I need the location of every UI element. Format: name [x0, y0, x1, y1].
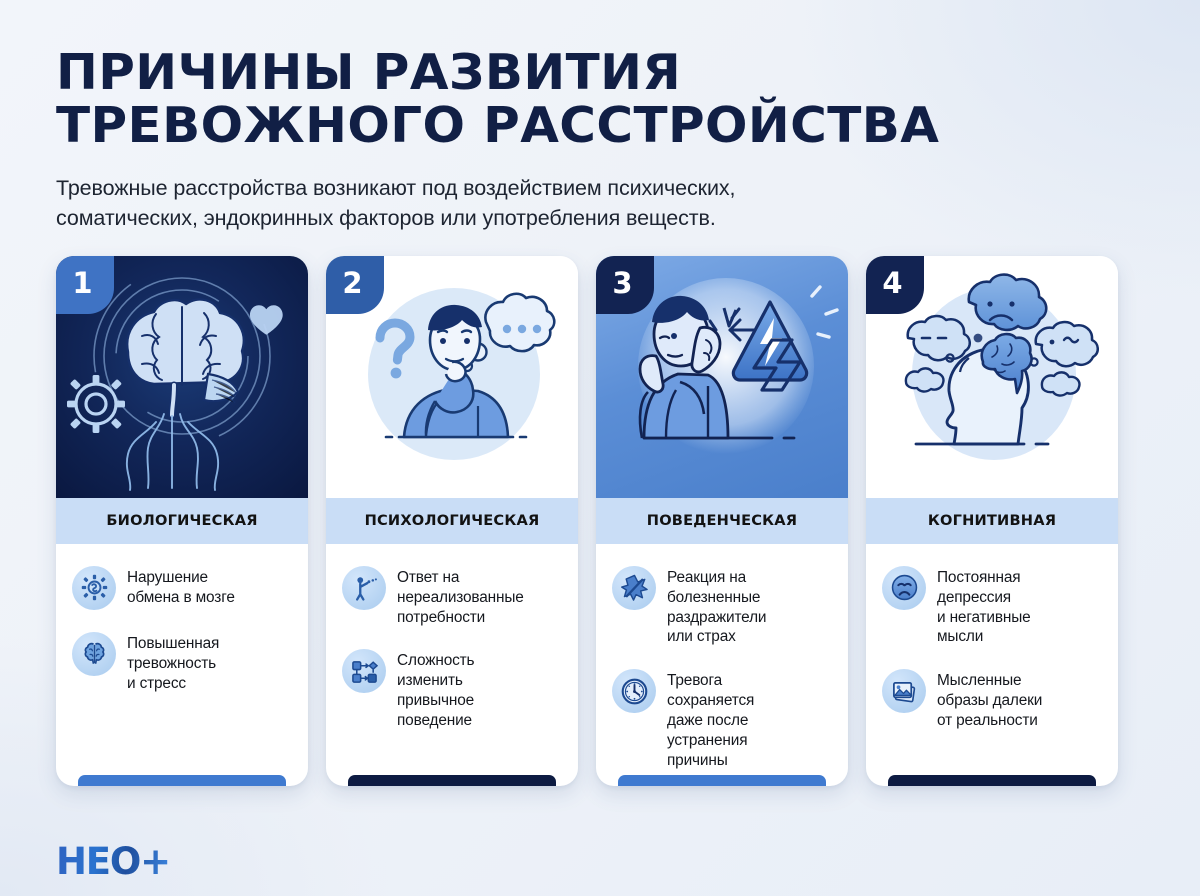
images-icon — [882, 669, 926, 713]
brain-icon — [72, 632, 116, 676]
list-item: Нарушение обмена в мозге — [72, 566, 292, 610]
list-item: Сложность изменить привычное поведение — [342, 649, 562, 730]
card-number-badge: 2 — [326, 256, 384, 314]
person-needs-icon — [342, 566, 386, 610]
card-label-behavioral: ПОВЕДЕНЧЕСКАЯ — [596, 498, 848, 544]
list-item: Ответ на нереализованные потребности — [342, 566, 562, 628]
card-behavioral[interactable]: 3 — [596, 256, 848, 786]
infographic-page: ПРИЧИНЫ РАЗВИТИЯ ТРЕВОЖНОГО РАССТРОЙСТВА… — [0, 0, 1200, 896]
burst-icon — [612, 566, 656, 610]
card-label-cognitive: КОГНИТИВНАЯ — [866, 498, 1118, 544]
list-item: Реакция на болезненные раздражители или … — [612, 566, 832, 647]
list-item-text: Постоянная депрессия и негативные мысли — [937, 566, 1031, 647]
gear-brain-icon — [72, 566, 116, 610]
list-item: Постоянная депрессия и негативные мысли — [882, 566, 1102, 647]
brand-logo: НЕО+ — [56, 843, 170, 880]
page-subtitle: Тревожные расстройства возникают под воз… — [56, 173, 1036, 234]
cards-row: 1 — [56, 256, 1144, 786]
card-biological[interactable]: 1 — [56, 256, 308, 786]
card-accent-bar — [888, 775, 1096, 786]
card-accent-bar — [618, 775, 826, 786]
card-body-behavioral: Реакция на болезненные раздражители или … — [596, 544, 848, 786]
list-item: Мысленные образы далеки от реальности — [882, 669, 1102, 731]
gear-icon — [67, 375, 125, 433]
card-cognitive[interactable]: 4 — [866, 256, 1118, 786]
list-item-text: Повышенная тревожность и стресс — [127, 632, 219, 694]
card-number-badge: 3 — [596, 256, 654, 314]
card-label-psychological: ПСИХОЛОГИЧЕСКАЯ — [326, 498, 578, 544]
sad-face-icon — [882, 566, 926, 610]
card-art-psychological: 2 — [326, 256, 578, 498]
list-item-text: Сложность изменить привычное поведение — [397, 649, 474, 730]
header: ПРИЧИНЫ РАЗВИТИЯ ТРЕВОЖНОГО РАССТРОЙСТВА… — [56, 46, 1144, 234]
list-item-text: Тревога сохраняется даже после устранени… — [667, 669, 754, 770]
card-number-badge: 4 — [866, 256, 924, 314]
list-item: Тревога сохраняется даже после устранени… — [612, 669, 832, 770]
list-item-text: Мысленные образы далеки от реальности — [937, 669, 1042, 731]
list-item-text: Реакция на болезненные раздражители или … — [667, 566, 766, 647]
list-item: Повышенная тревожность и стресс — [72, 632, 292, 694]
clock-icon — [612, 669, 656, 713]
card-label-biological: БИОЛОГИЧЕСКАЯ — [56, 498, 308, 544]
page-title: ПРИЧИНЫ РАЗВИТИЯ ТРЕВОЖНОГО РАССТРОЙСТВА — [56, 46, 1166, 153]
card-accent-bar — [78, 775, 286, 786]
flowchart-icon — [342, 649, 386, 693]
card-body-biological: Нарушение обмена в мозге Повышен — [56, 544, 308, 786]
list-item-text: Нарушение обмена в мозге — [127, 566, 235, 608]
card-art-behavioral: 3 — [596, 256, 848, 498]
card-art-biological: 1 — [56, 256, 308, 498]
card-number-badge: 1 — [56, 256, 114, 314]
card-body-cognitive: Постоянная депрессия и негативные мысли … — [866, 544, 1118, 786]
card-accent-bar — [348, 775, 556, 786]
list-item-text: Ответ на нереализованные потребности — [397, 566, 524, 628]
card-psychological[interactable]: 2 — [326, 256, 578, 786]
card-art-cognitive: 4 — [866, 256, 1118, 498]
card-body-psychological: Ответ на нереализованные потребности — [326, 544, 578, 786]
